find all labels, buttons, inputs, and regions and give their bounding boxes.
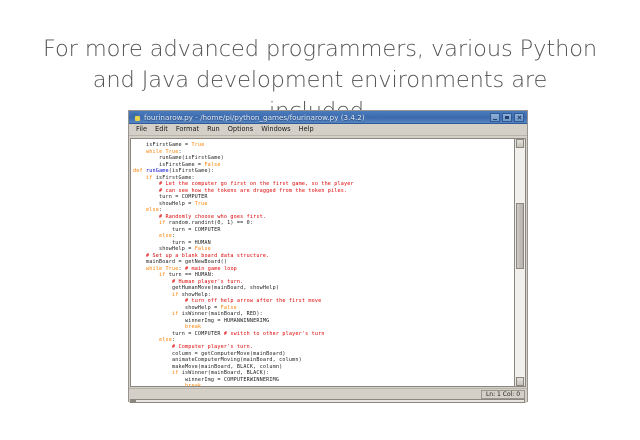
code-token-cm: # switch to other player's turn	[224, 331, 325, 337]
code-token-df	[133, 298, 185, 304]
code-token-kw: False	[221, 305, 237, 311]
code-token-df	[133, 279, 172, 285]
python-file-icon	[132, 113, 141, 122]
code-token-df: winnerImg = HUMANWINNERIMG	[133, 318, 269, 324]
code-token-kw: False	[204, 162, 220, 168]
code-token-df: :	[178, 149, 181, 155]
code-line: break	[133, 383, 514, 386]
code-token-df: animateComputerMoving(mainBoard, column)	[133, 357, 302, 363]
code-token-df: winnerImg = COMPUTERWINNERIMG	[133, 377, 279, 383]
window-controls[interactable]	[490, 113, 524, 122]
editor-frame: isFirstGame = True while True: runGame(i…	[130, 138, 526, 387]
code-token-df: runGame(isFirstGame)	[133, 155, 224, 161]
code-token-kw: break	[185, 324, 201, 330]
code-token-cm: # Computer player's turn.	[172, 344, 253, 350]
code-token-kw: True	[191, 142, 204, 148]
code-token-df: showHelp =	[133, 305, 221, 311]
menu-bar[interactable]: FileEditFormatRunOptionsWindowsHelp	[129, 124, 527, 136]
code-token-df: turn = COMPUTER	[133, 331, 224, 337]
code-token-df: showHelp =	[133, 246, 195, 252]
code-token-df: makeMove(mainBoard, BLACK, column)	[133, 364, 282, 370]
menu-item-format[interactable]: Format	[172, 124, 203, 135]
code-token-df: random.randint(0, 1) == 0:	[165, 220, 253, 226]
code-token-df: isFirstGame =	[133, 142, 191, 148]
code-token-df	[133, 149, 146, 155]
maximize-button[interactable]	[502, 113, 512, 122]
code-token-df	[133, 370, 172, 376]
horizontal-scrollbar[interactable]	[130, 399, 525, 403]
code-token-kw: else	[146, 207, 159, 213]
code-token-df	[133, 175, 146, 181]
code-token-df: column = getComputerMove(mainBoard)	[133, 351, 286, 357]
menu-item-edit[interactable]: Edit	[151, 124, 172, 135]
code-token-kw: break	[185, 383, 201, 386]
code-token-kw: True	[165, 149, 178, 155]
code-token-df: isFirstGame =	[133, 162, 204, 168]
code-token-kw: False	[195, 246, 211, 252]
code-token-df: :	[172, 337, 175, 343]
code-token-df: showHelp =	[133, 201, 195, 207]
code-token-kw: True	[195, 201, 208, 207]
code-token-df	[133, 383, 185, 386]
code-token-df	[133, 188, 159, 194]
code-token-df	[133, 266, 146, 272]
window-title: fourinarow.py - /home/pi/python_games/fo…	[144, 111, 490, 124]
menu-item-file[interactable]: File	[132, 124, 151, 135]
code-token-df: turn = COMPUTER	[133, 227, 221, 233]
code-token-df	[133, 220, 159, 226]
menu-item-options[interactable]: Options	[224, 124, 257, 135]
code-token-df: turn == HUMAN:	[165, 272, 214, 278]
code-token-kw: while	[146, 266, 162, 272]
code-token-cm: # Human player's turn.	[172, 279, 243, 285]
menu-item-run[interactable]: Run	[203, 124, 224, 135]
code-token-df: :	[159, 207, 162, 213]
code-token-df: :	[172, 233, 175, 239]
code-token-df: isFirstGame:	[153, 175, 195, 181]
code-token-df	[133, 233, 159, 239]
code-token-df: mainBoard = getNewBoard()	[133, 259, 227, 265]
code-token-cm: # Let the computer go first on the first…	[159, 181, 354, 187]
code-token-df	[133, 337, 159, 343]
status-bar: Ln: 1 Col: 0	[129, 388, 527, 403]
code-token-cm: # turn off help arrow after the first mo…	[185, 298, 321, 304]
code-token-cm: # Set up a blank board data structure.	[146, 253, 269, 259]
code-token-df	[133, 253, 146, 259]
code-token-df: turn = COMPUTER	[133, 194, 208, 200]
menu-item-help[interactable]: Help	[295, 124, 318, 135]
scroll-down-arrow-icon[interactable]	[516, 377, 524, 386]
code-token-df	[133, 324, 185, 330]
code-token-df	[133, 272, 159, 278]
vertical-scroll-thumb[interactable]	[516, 203, 524, 269]
code-token-cm: # can see how the tokens are dragged fro…	[159, 188, 347, 194]
code-token-kw: def	[133, 168, 143, 174]
code-token-kw: while	[146, 149, 162, 155]
minimize-button[interactable]	[490, 113, 500, 122]
code-token-df	[133, 214, 159, 220]
code-token-df: isWinner(mainBoard, BLACK):	[178, 370, 269, 376]
code-token-df	[133, 344, 172, 350]
code-token-df: (isFirstGame):	[169, 168, 214, 174]
vertical-scrollbar[interactable]	[514, 139, 526, 386]
menu-item-windows[interactable]: Windows	[257, 124, 294, 135]
code-token-nm: runGame	[146, 168, 169, 174]
cursor-position-status: Ln: 1 Col: 0	[481, 390, 525, 399]
code-token-df: turn = HUMAN	[133, 240, 211, 246]
window-titlebar[interactable]: fourinarow.py - /home/pi/python_games/fo…	[129, 111, 527, 124]
code-token-kw: True	[165, 266, 178, 272]
code-token-df: isWinner(mainBoard, RED):	[178, 311, 262, 317]
code-token-df	[133, 292, 172, 298]
code-token-df	[133, 181, 159, 187]
code-token-df: getHumanMove(mainBoard, showHelp)	[133, 285, 279, 291]
code-token-df	[133, 207, 146, 213]
code-token-kw: else	[159, 233, 172, 239]
scroll-up-arrow-icon[interactable]	[516, 139, 524, 148]
code-token-kw: else	[159, 337, 172, 343]
close-button[interactable]	[514, 113, 524, 122]
code-token-cm: # Randomly choose who goes first.	[159, 214, 266, 220]
editor-region: isFirstGame = True while True: runGame(i…	[129, 136, 527, 388]
code-text-area[interactable]: isFirstGame = True while True: runGame(i…	[131, 139, 514, 386]
code-token-df	[133, 311, 172, 317]
code-token-cm: # main game loop	[185, 266, 237, 272]
code-token-df: showHelp:	[178, 292, 210, 298]
idle-editor-window[interactable]: fourinarow.py - /home/pi/python_games/fo…	[128, 110, 528, 402]
slide-canvas: For more advanced programmers, various P…	[0, 0, 640, 440]
horizontal-scroll-thumb[interactable]	[131, 400, 136, 402]
